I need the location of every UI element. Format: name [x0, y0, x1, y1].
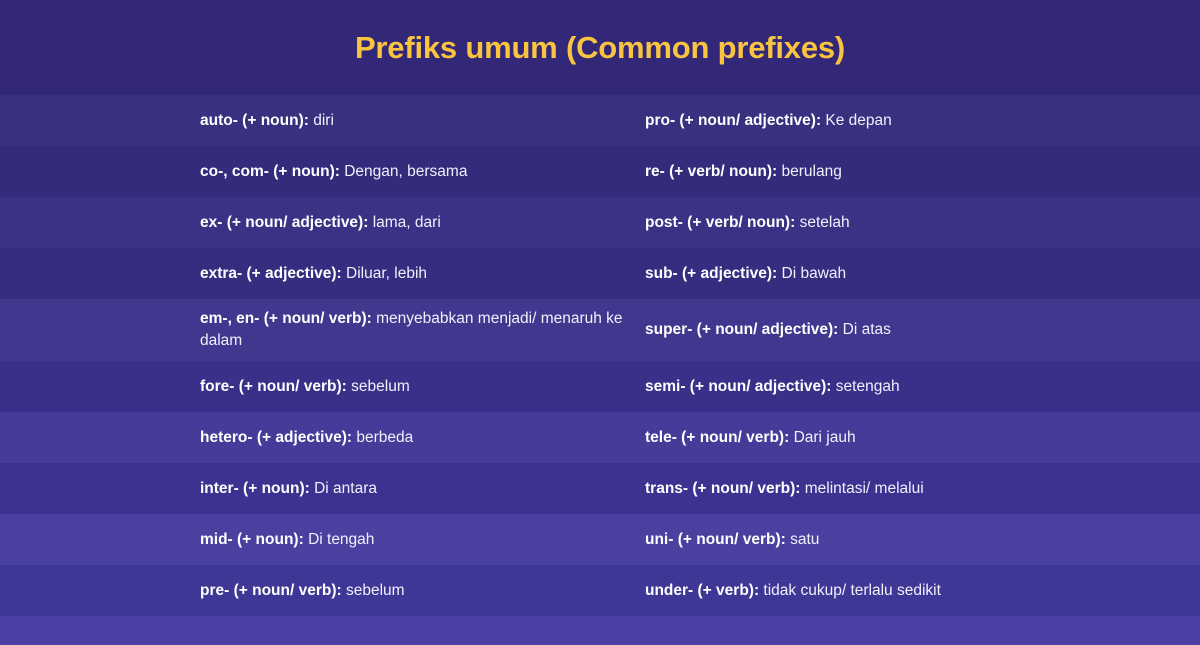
prefix-entry-right: re- (+ verb/ noun): berulang: [645, 161, 1105, 183]
prefix-entry-left: extra- (+ adjective): Diluar, lebih: [200, 263, 645, 285]
prefix-entry-right: sub- (+ adjective): Di bawah: [645, 263, 1105, 285]
table-row: hetero- (+ adjective): berbedatele- (+ n…: [0, 412, 1200, 463]
prefix-label: em-, en- (+ noun/ verb):: [200, 310, 372, 327]
table-row: co-, com- (+ noun): Dengan, bersamare- (…: [0, 146, 1200, 197]
prefix-definition: Diluar, lebih: [346, 265, 427, 282]
prefix-entry-right: pro- (+ noun/ adjective): Ke depan: [645, 110, 1105, 132]
prefix-entry-right: trans- (+ noun/ verb): melintasi/ melalu…: [645, 478, 1105, 500]
prefix-entry-left: mid- (+ noun): Di tengah: [200, 529, 645, 551]
prefix-definition: Di antara: [314, 480, 377, 497]
prefix-definition: berbeda: [356, 429, 413, 446]
prefix-label: uni- (+ noun/ verb):: [645, 531, 786, 548]
prefix-label: under- (+ verb):: [645, 582, 759, 599]
table-row: fore- (+ noun/ verb): sebelumsemi- (+ no…: [0, 361, 1200, 412]
table-row: inter- (+ noun): Di antaratrans- (+ noun…: [0, 463, 1200, 514]
prefix-definition: melintasi/ melalui: [805, 480, 924, 497]
prefix-definition: Di bawah: [782, 265, 847, 282]
prefix-entry-right: semi- (+ noun/ adjective): setengah: [645, 376, 1105, 398]
prefix-label: semi- (+ noun/ adjective):: [645, 378, 831, 395]
prefix-label: pre- (+ noun/ verb):: [200, 582, 342, 599]
table-row: ex- (+ noun/ adjective): lama, daripost-…: [0, 197, 1200, 248]
prefix-entry-left: ex- (+ noun/ adjective): lama, dari: [200, 212, 645, 234]
prefix-label: hetero- (+ adjective):: [200, 429, 352, 446]
prefix-definition: Dengan, bersama: [344, 163, 467, 180]
prefix-definition: Di atas: [843, 321, 891, 338]
prefix-label: ex- (+ noun/ adjective):: [200, 214, 368, 231]
prefix-definition: Di tengah: [308, 531, 374, 548]
prefix-table: auto- (+ noun): diripro- (+ noun/ adject…: [0, 95, 1200, 616]
prefix-definition: sebelum: [346, 582, 405, 599]
table-row: mid- (+ noun): Di tengahuni- (+ noun/ ve…: [0, 514, 1200, 565]
prefix-label: re- (+ verb/ noun):: [645, 163, 777, 180]
prefix-entry-left: inter- (+ noun): Di antara: [200, 478, 645, 500]
slide-root: ELSA Prefiks umum (Common prefixes) auto…: [0, 0, 1200, 645]
table-row: pre- (+ noun/ verb): sebelumunder- (+ ve…: [0, 565, 1200, 616]
prefix-definition: setengah: [836, 378, 900, 395]
prefix-entry-right: super- (+ noun/ adjective): Di atas: [645, 319, 1105, 341]
table-row: auto- (+ noun): diripro- (+ noun/ adject…: [0, 95, 1200, 146]
prefix-entry-left: pre- (+ noun/ verb): sebelum: [200, 580, 645, 602]
table-row: em-, en- (+ noun/ verb): menyebabkan men…: [0, 299, 1200, 361]
prefix-entry-left: auto- (+ noun): diri: [200, 110, 645, 132]
prefix-definition: satu: [790, 531, 819, 548]
prefix-entry-right: uni- (+ noun/ verb): satu: [645, 529, 1105, 551]
prefix-label: inter- (+ noun):: [200, 480, 310, 497]
table-row: extra- (+ adjective): Diluar, lebihsub- …: [0, 248, 1200, 299]
slide-header: Prefiks umum (Common prefixes): [0, 0, 1200, 95]
prefix-entry-left: em-, en- (+ noun/ verb): menyebabkan men…: [200, 308, 645, 352]
prefix-label: extra- (+ adjective):: [200, 265, 342, 282]
prefix-label: mid- (+ noun):: [200, 531, 304, 548]
prefix-label: sub- (+ adjective):: [645, 265, 777, 282]
prefix-entry-left: fore- (+ noun/ verb): sebelum: [200, 376, 645, 398]
prefix-definition: Dari jauh: [794, 429, 856, 446]
prefix-label: super- (+ noun/ adjective):: [645, 321, 838, 338]
prefix-definition: tidak cukup/ terlalu sedikit: [763, 582, 940, 599]
prefix-label: auto- (+ noun):: [200, 112, 309, 129]
prefix-label: tele- (+ noun/ verb):: [645, 429, 789, 446]
prefix-entry-right: post- (+ verb/ noun): setelah: [645, 212, 1105, 234]
prefix-label: fore- (+ noun/ verb):: [200, 378, 347, 395]
prefix-definition: setelah: [800, 214, 850, 231]
footer-band: [0, 616, 1200, 645]
prefix-label: trans- (+ noun/ verb):: [645, 480, 800, 497]
prefix-entry-left: co-, com- (+ noun): Dengan, bersama: [200, 161, 645, 183]
prefix-label: post- (+ verb/ noun):: [645, 214, 795, 231]
prefix-label: co-, com- (+ noun):: [200, 163, 340, 180]
prefix-label: pro- (+ noun/ adjective):: [645, 112, 821, 129]
prefix-definition: lama, dari: [373, 214, 441, 231]
prefix-entry-right: tele- (+ noun/ verb): Dari jauh: [645, 427, 1105, 449]
prefix-definition: diri: [313, 112, 334, 129]
prefix-definition: Ke depan: [825, 112, 891, 129]
prefix-entry-right: under- (+ verb): tidak cukup/ terlalu se…: [645, 580, 1105, 602]
prefix-definition: sebelum: [351, 378, 410, 395]
prefix-entry-left: hetero- (+ adjective): berbeda: [200, 427, 645, 449]
prefix-definition: berulang: [782, 163, 842, 180]
page-title: Prefiks umum (Common prefixes): [355, 30, 845, 66]
